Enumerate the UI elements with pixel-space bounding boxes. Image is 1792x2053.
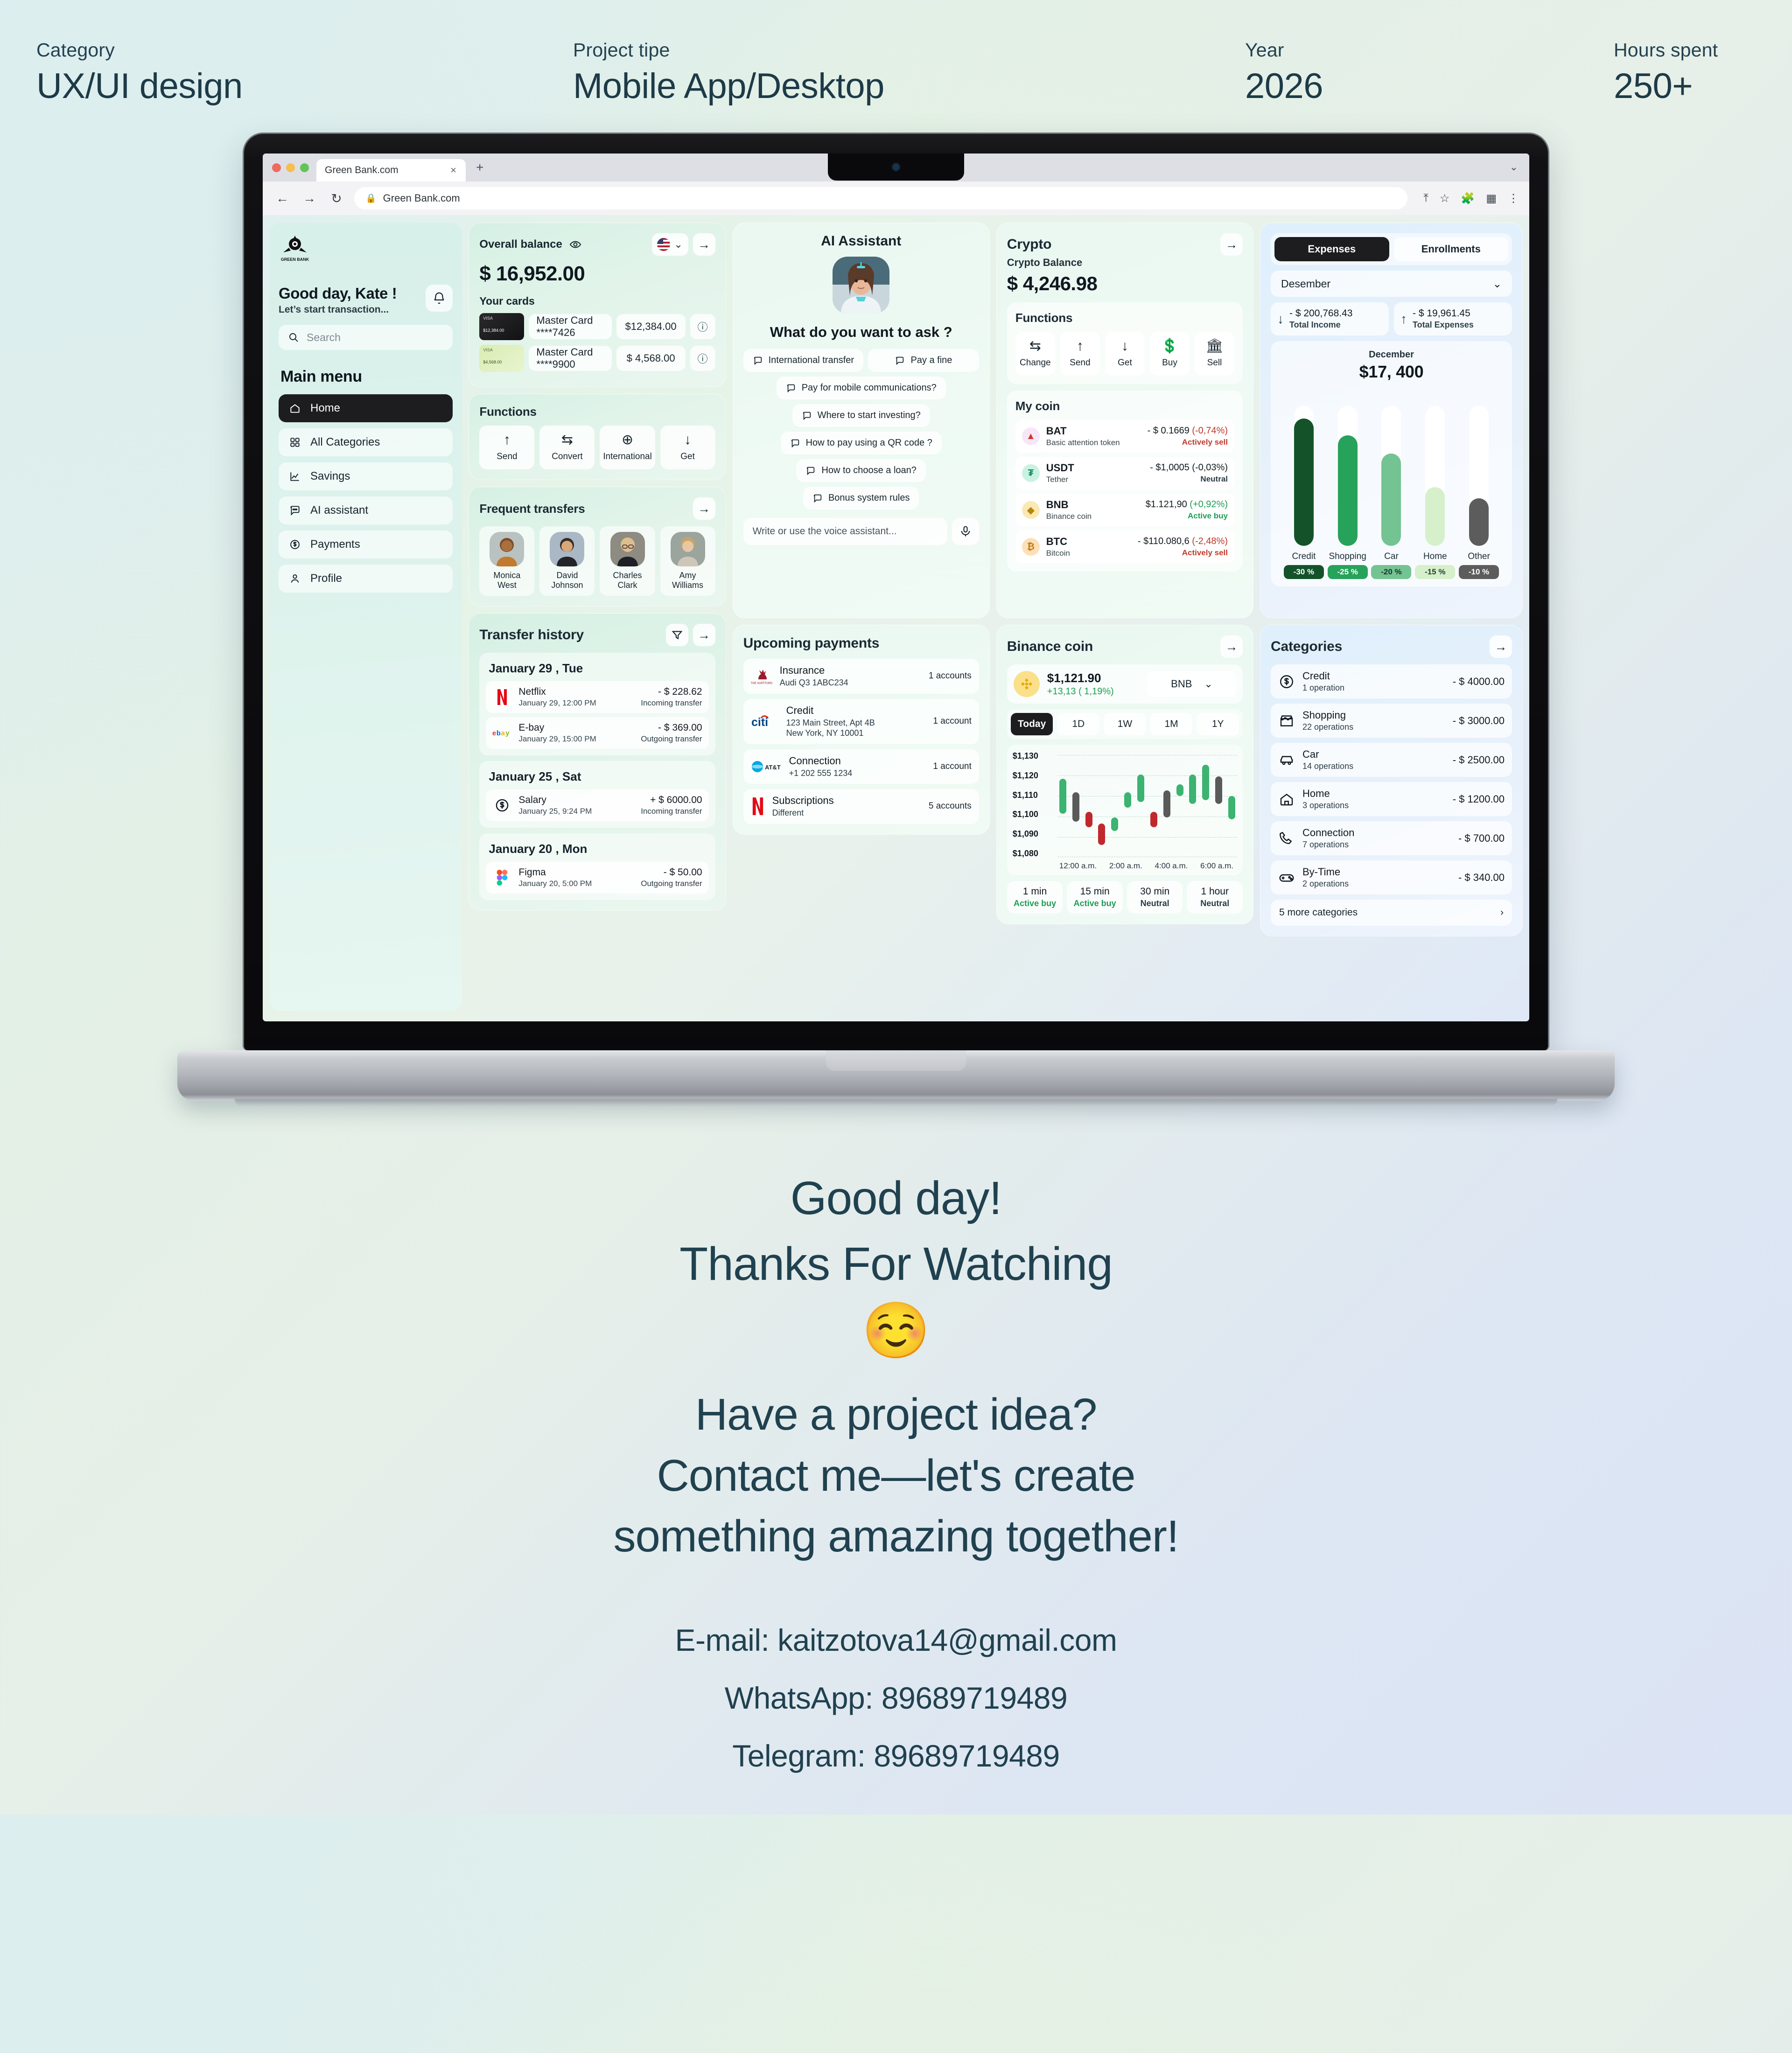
- svg-text:e: e: [492, 730, 496, 737]
- person-first-name: Amy: [679, 571, 696, 580]
- table-row[interactable]: Shopping22 operations - $ 3000.00: [1271, 704, 1512, 738]
- tab-expenses[interactable]: Expenses: [1274, 237, 1389, 261]
- bar-category: Other: [1459, 552, 1499, 562]
- coin-price-value: $1.121,90: [1146, 499, 1187, 510]
- webcam-notch: [828, 154, 964, 181]
- candle: [1124, 792, 1131, 808]
- sidebar-item-label: AI assistant: [310, 504, 368, 517]
- signal-value: Neutral: [1189, 899, 1241, 908]
- exchange-icon: ⇆: [561, 433, 573, 447]
- card-info-button[interactable]: ⓘ: [690, 314, 715, 339]
- dollar-circle-icon: 💲: [1161, 339, 1178, 353]
- history-datetime: January 29, 12:00 PM: [518, 698, 596, 708]
- coin-symbol: BAT: [1046, 425, 1120, 437]
- payment-desc: +1 202 555 1234: [789, 768, 853, 779]
- table-row[interactable]: Figma January 20, 5:00 PM - $ 50.00 Outg…: [486, 862, 708, 894]
- card-row[interactable]: VISA$4,568.00 Master Card ****9900 $ 4,5…: [479, 345, 715, 372]
- history-merchant: Salary: [518, 795, 592, 806]
- ai-assistant-avatar: [833, 257, 889, 314]
- dollar-icon: [289, 538, 301, 551]
- laptop-lid: Green Bank.com × + ⌄ ← → ↻ 🔒: [243, 133, 1549, 1050]
- category-ops: 7 operations: [1302, 840, 1354, 850]
- category-name: Home: [1302, 788, 1349, 800]
- address-input[interactable]: 🔒 Green Bank.com: [354, 187, 1407, 209]
- sidebar-item-label: Home: [310, 402, 340, 415]
- candle: [1215, 776, 1222, 804]
- chat-bubble-icon: [805, 466, 816, 476]
- crypto-function-label: Change: [1020, 358, 1051, 368]
- category-ops: 1 operation: [1302, 683, 1344, 693]
- maximize-window-button[interactable]: [300, 163, 309, 172]
- extensions-icon[interactable]: 🧩: [1461, 192, 1475, 205]
- outro-cta-line-3: something amazing together!: [613, 1511, 1178, 1561]
- forward-icon[interactable]: →: [300, 191, 319, 206]
- lock-icon: 🔒: [365, 193, 377, 204]
- total-expenses-stat: ↑ - $ 19,961.45 Total Expenses: [1394, 302, 1512, 335]
- dashboard: GREEN BANK Good day, Kate ! Let’s start …: [263, 215, 1529, 1021]
- person-last-name: Clark: [617, 580, 637, 590]
- currency-selector[interactable]: ⌄: [652, 233, 688, 256]
- category-amount: - $ 1200.00: [1453, 793, 1505, 805]
- person-name: AmyWilliams: [672, 571, 703, 590]
- history-row-right: - $ 228.62 Incoming transfer: [641, 686, 702, 708]
- signal-value: Active buy: [1069, 899, 1121, 908]
- dashboard-column-b: AI Assistant: [733, 223, 990, 835]
- month-select[interactable]: Desember ⌄: [1271, 271, 1512, 297]
- binance-coin-card: Binance coin → $1,121.90 +13,13 ( 1,19%): [996, 625, 1253, 924]
- outro-cta-line-2: Contact me—let's create: [657, 1451, 1135, 1501]
- function-send-button[interactable]: ↑Send: [479, 426, 534, 469]
- svg-text:a: a: [501, 730, 505, 737]
- home-icon: [289, 402, 301, 414]
- candle: [1189, 775, 1196, 804]
- category-amount: - $ 700.00: [1458, 832, 1505, 845]
- signal-1min[interactable]: 1 minActive buy: [1007, 881, 1063, 914]
- globe-icon: ⊕: [622, 433, 633, 447]
- crypto-header: Crypto →: [1007, 233, 1243, 256]
- history-row-right: - $ 369.00 Outgoing transfer: [641, 722, 702, 744]
- table-row[interactable]: ₮ USDT Tether - $1,0005 (-0,03%) Neutral: [1015, 457, 1234, 489]
- candle: [1085, 812, 1092, 827]
- sidebar-icon[interactable]: ▦: [1486, 192, 1497, 205]
- category-amount: - $ 2500.00: [1453, 754, 1505, 766]
- history-group: January 29 , Tue Netflix January 29, 12:…: [479, 653, 715, 755]
- more-categories-label: 5 more categories: [1279, 907, 1358, 918]
- frequent-transfers-title: Frequent transfers: [479, 502, 585, 516]
- home-icon: [1278, 791, 1295, 808]
- function-label: Convert: [552, 452, 583, 462]
- total-income-stat: ↓ - $ 200,768.43 Total Income: [1271, 302, 1389, 335]
- bell-icon: [432, 291, 446, 305]
- bar-label: Shopping-25 %: [1328, 552, 1368, 579]
- close-window-button[interactable]: [272, 163, 281, 172]
- coin-main: USDT Tether: [1046, 462, 1074, 484]
- chart-grid: [1057, 751, 1237, 859]
- list-item[interactable]: DavidJohnson: [539, 526, 595, 596]
- history-amount: - $ 228.62: [641, 686, 702, 698]
- list-item[interactable]: citi Credit 123 Main Street, Apt 4B New …: [743, 699, 979, 744]
- sidebar-item-ai-assistant[interactable]: AI assistant: [279, 496, 453, 524]
- card-thumb-amount: $12,384.00: [483, 328, 504, 333]
- laptop-base-notch: [826, 1050, 966, 1071]
- meta-value: 2026: [1245, 66, 1614, 106]
- payment-name: Credit: [786, 705, 875, 717]
- contact-telegram[interactable]: Telegram: 89689719489: [0, 1738, 1792, 1774]
- card-thumbnail: VISA$4,568.00: [479, 345, 524, 372]
- hartford-logo: THE HARTFORD: [751, 665, 772, 687]
- category-amount: - $ 4000.00: [1453, 676, 1505, 688]
- range-1y[interactable]: 1Y: [1197, 713, 1239, 735]
- person-name: DavidJohnson: [551, 571, 583, 590]
- arrow-down-icon: ↓: [1121, 339, 1128, 353]
- dashboard-column-a: Overall balance ⌄ →: [469, 223, 726, 911]
- chat-bubble-icon: [812, 493, 823, 503]
- candle: [1163, 790, 1170, 818]
- overall-balance-card: Overall balance ⌄ →: [469, 223, 726, 387]
- sidebar-item-savings[interactable]: Savings: [279, 462, 453, 490]
- candle: [1176, 784, 1183, 796]
- btc-coin-icon: ₿: [1022, 538, 1040, 556]
- search-input[interactable]: Search: [279, 325, 453, 350]
- x-tick: 4:00 a.m.: [1155, 861, 1188, 871]
- binance-price-block: $1,121.90 +13,13 ( 1,19%): [1047, 671, 1114, 697]
- coin-change: (+0,92%): [1190, 499, 1228, 510]
- y-axis: $1,130 $1,120 $1,110 $1,100 $1,090 $1,08…: [1013, 751, 1057, 859]
- table-row[interactable]: By-Time2 operations - $ 340.00: [1271, 860, 1512, 894]
- dollar-icon: [1278, 673, 1295, 690]
- binance-header: Binance coin →: [1007, 635, 1243, 658]
- table-row[interactable]: Credit1 operation - $ 4000.00: [1271, 664, 1512, 698]
- overall-balance-label: Overall balance: [479, 238, 581, 251]
- crypto-change-button[interactable]: ⇆Change: [1015, 332, 1055, 376]
- svg-text:y: y: [506, 730, 510, 737]
- bar-value-badge: -30 %: [1284, 565, 1324, 579]
- meta-label: Year: [1245, 39, 1614, 61]
- sidebar-item-label: Profile: [310, 572, 342, 585]
- chart-plot-area: $1,130 $1,120 $1,110 $1,100 $1,090 $1,08…: [1013, 751, 1237, 859]
- share-icon[interactable]: ⤒: [1423, 192, 1428, 205]
- signal-15min[interactable]: 15 minActive buy: [1067, 881, 1123, 914]
- search-placeholder: Search: [307, 331, 341, 344]
- window-controls[interactable]: [263, 163, 316, 182]
- bar-category: Home: [1415, 552, 1455, 562]
- range-1d[interactable]: 1D: [1057, 713, 1099, 735]
- table-row[interactable]: Salary January 25, 9:24 PM + $ 6000.00 I…: [486, 789, 708, 821]
- address-text: Green Bank.com: [383, 192, 460, 204]
- payment-accounts: 1 account: [933, 716, 971, 726]
- frequent-transfers-arrow-button[interactable]: →: [693, 497, 715, 520]
- functions-title: Functions: [479, 405, 715, 419]
- ai-input-row: Write or use the voice assistant...: [743, 518, 979, 545]
- crypto-arrow-button[interactable]: →: [1220, 233, 1243, 256]
- category-main: Credit1 operation: [1302, 670, 1344, 693]
- bnb-coin-icon: ◆: [1022, 501, 1040, 519]
- more-categories-button[interactable]: 5 more categories ›: [1271, 900, 1512, 926]
- chevron-down-icon[interactable]: ⌄: [1510, 161, 1529, 182]
- arrow-up-icon: ↑: [1077, 339, 1084, 353]
- payment-name: Subscriptions: [772, 795, 834, 807]
- bar-fill: [1294, 419, 1314, 546]
- card-info-button[interactable]: ⓘ: [690, 346, 715, 371]
- browser-url-bar: ← → ↻ 🔒 Green Bank.com ⤒ ☆ 🧩 ▦ ⋮: [263, 182, 1529, 215]
- ai-chip[interactable]: How to choose a loan?: [796, 459, 925, 482]
- coin-symbol: USDT: [1046, 462, 1074, 474]
- meta-item-year: Year 2026: [1245, 39, 1614, 106]
- greeting-row: Good day, Kate ! Let’s start transaction…: [279, 285, 453, 315]
- filter-icon: [671, 629, 683, 641]
- avatar: [610, 532, 645, 566]
- table-row[interactable]: Home3 operations - $ 1200.00: [1271, 782, 1512, 816]
- browser-tab[interactable]: Green Bank.com ×: [316, 159, 466, 182]
- dollar-icon: [492, 796, 512, 815]
- voice-assistant-button[interactable]: [952, 518, 979, 545]
- bar-label: Other-10 %: [1459, 552, 1499, 579]
- back-icon[interactable]: ←: [273, 191, 292, 206]
- candle: [1202, 765, 1209, 800]
- coin-right: - $ 0.1669 (-0,74%) Actively sell: [1148, 426, 1228, 447]
- citi-logo: citi: [751, 712, 779, 731]
- svg-text:GREEN BANK: GREEN BANK: [281, 257, 309, 262]
- sidebar: GREEN BANK Good day, Kate ! Let’s start …: [269, 223, 462, 1011]
- function-convert-button[interactable]: ⇆Convert: [539, 426, 595, 469]
- binance-price-row: $1,121.90 +13,13 ( 1,19%) BNB⌄: [1007, 664, 1243, 704]
- ai-chip[interactable]: How to pay using a QR code ?: [781, 432, 942, 454]
- list-item[interactable]: CharlesClark: [600, 526, 655, 596]
- list-item[interactable]: THE HARTFORD Insurance Audi Q3 1ABC234 1…: [743, 659, 979, 694]
- x-tick: 2:00 a.m.: [1109, 861, 1142, 871]
- candle-series: [1057, 751, 1237, 859]
- y-tick: $1,080: [1013, 849, 1057, 859]
- att-logo: AT&T: [751, 759, 782, 775]
- bar-value-badge: -25 %: [1328, 565, 1368, 579]
- bat-coin-icon: ▲: [1022, 427, 1040, 445]
- table-row[interactable]: Netflix January 29, 12:00 PM - $ 228.62 …: [486, 681, 708, 713]
- crypto-get-button[interactable]: ↓Get: [1105, 332, 1145, 376]
- table-row[interactable]: ◆ BNB Binance coin $1.121,90 (+0,92%) Ac…: [1015, 494, 1234, 526]
- range-1m[interactable]: 1M: [1150, 713, 1193, 735]
- chip-row: International transfer Pay a fine: [743, 349, 979, 372]
- microphone-icon: [959, 525, 972, 538]
- signal-1hour[interactable]: 1 hourNeutral: [1187, 881, 1243, 914]
- total-income-label: Total Income: [1289, 320, 1352, 330]
- bar-fill: [1381, 454, 1401, 546]
- coin-name: Bitcoin: [1046, 549, 1070, 558]
- payment-accounts: 1 account: [933, 761, 971, 772]
- contact-block: E-mail: kaitzotova14@gmail.com WhatsApp:…: [0, 1622, 1792, 1774]
- payment-desc: Audi Q3 1ABC234: [780, 677, 848, 688]
- new-tab-button[interactable]: +: [466, 160, 493, 182]
- candle: [1072, 792, 1079, 822]
- ai-chip[interactable]: International transfer: [743, 349, 863, 372]
- bar-category: Car: [1371, 552, 1411, 562]
- dashboard-column-c: Crypto → Crypto Balance $ 4,246.98 Funct…: [996, 223, 1253, 924]
- category-main: Shopping22 operations: [1302, 709, 1353, 732]
- ai-assistant-title: AI Assistant: [743, 233, 979, 249]
- close-tab-icon[interactable]: ×: [448, 164, 459, 176]
- ai-chip[interactable]: Pay for mobile communications?: [777, 377, 946, 399]
- history-datetime: January 25, 9:24 PM: [518, 807, 592, 816]
- search-icon: [288, 332, 299, 343]
- ai-chip-label: International transfer: [769, 355, 854, 366]
- payment-desc: Different: [772, 808, 834, 818]
- category-ops: 3 operations: [1302, 801, 1349, 810]
- coin-select[interactable]: BNB⌄: [1148, 671, 1236, 697]
- range-today[interactable]: Today: [1011, 713, 1053, 735]
- history-merchant: Netflix: [518, 686, 596, 698]
- eye-icon[interactable]: [569, 238, 582, 251]
- card-amount: $12,384.00: [616, 314, 686, 339]
- chat-bubble-icon: [802, 411, 812, 421]
- laptop-base-body: [177, 1050, 1615, 1101]
- sidebar-item-label: Payments: [310, 538, 360, 551]
- ai-assistant-card: AI Assistant: [733, 223, 990, 618]
- list-item[interactable]: AT&T Connection +1 202 555 1234 1 accoun…: [743, 749, 979, 784]
- history-merchant: Figma: [518, 867, 592, 878]
- payment-accounts: 5 accounts: [929, 801, 972, 811]
- avatar: [671, 532, 705, 566]
- sidebar-item-payments[interactable]: Payments: [279, 531, 453, 559]
- y-tick: $1,120: [1013, 771, 1057, 781]
- list-item[interactable]: Subscriptions Different 5 accounts: [743, 789, 979, 824]
- card-name: Master Card ****9900: [529, 346, 611, 371]
- bar-category: Shopping: [1328, 552, 1368, 562]
- outro-cta-line-1: Have a project idea?: [695, 1390, 1097, 1439]
- sidebar-item-label: Savings: [310, 470, 350, 483]
- range-1w[interactable]: 1W: [1104, 713, 1146, 735]
- bar-fill: [1338, 435, 1358, 546]
- transfer-history-card: Transfer history → Janua: [469, 613, 726, 911]
- function-international-button[interactable]: ⊕International: [600, 426, 655, 469]
- function-label: Send: [497, 452, 517, 462]
- chevron-down-icon: ⌄: [1204, 678, 1212, 690]
- list-item[interactable]: MonicaWest: [479, 526, 534, 596]
- greeting-title: Good day, Kate !: [279, 285, 397, 302]
- crypto-function-label: Buy: [1162, 358, 1177, 368]
- ai-chip[interactable]: Pay a fine: [868, 349, 979, 372]
- y-tick: $1,090: [1013, 829, 1057, 839]
- categories-title: Categories: [1271, 639, 1342, 655]
- table-row[interactable]: ebay E-bay January 29, 15:00 PM - $ 369.…: [486, 717, 708, 749]
- contact-email[interactable]: E-mail: kaitzotova14@gmail.com: [0, 1622, 1792, 1658]
- history-row-main: Salary January 25, 9:24 PM: [518, 795, 592, 816]
- signal-row: 1 minActive buy 15 minActive buy 30 minN…: [1007, 881, 1243, 914]
- history-row-main: E-bay January 29, 15:00 PM: [518, 722, 596, 744]
- netflix-logo: [751, 797, 765, 816]
- greeting-subtitle: Let’s start transaction...: [279, 304, 397, 315]
- crypto-buy-button[interactable]: 💲Buy: [1150, 332, 1190, 376]
- card-row[interactable]: VISA$12,384.00 Master Card ****7426 $12,…: [479, 313, 715, 340]
- more-menu-icon[interactable]: ⋮: [1508, 192, 1519, 205]
- avatar: [490, 532, 524, 566]
- chart-line-icon: [289, 470, 301, 482]
- meta-label: Project tipe: [573, 39, 1245, 61]
- ai-chip[interactable]: Where to start investing?: [792, 404, 930, 427]
- tab-enrollments[interactable]: Enrollments: [1394, 237, 1509, 261]
- meta-label: Hours spent: [1614, 39, 1756, 61]
- categories-arrow-button[interactable]: →: [1490, 635, 1512, 658]
- coin-price-value: - $ 0.1669: [1148, 426, 1190, 436]
- notifications-button[interactable]: [426, 285, 453, 312]
- bar: [1338, 406, 1358, 546]
- green-bank-logo: GREEN BANK: [279, 234, 311, 264]
- transfer-history-arrow-button[interactable]: →: [693, 624, 715, 646]
- table-row[interactable]: Connection7 operations - $ 700.00: [1271, 821, 1512, 855]
- sidebar-item-profile[interactable]: Profile: [279, 565, 453, 593]
- transfer-history-header: Transfer history →: [479, 624, 715, 646]
- svg-text:AT&T: AT&T: [765, 764, 781, 771]
- signal-30min[interactable]: 30 minNeutral: [1127, 881, 1183, 914]
- coin-price: $1.121,90 (+0,92%): [1146, 499, 1228, 510]
- bar-series: [1278, 392, 1505, 546]
- table-row[interactable]: ▲ BAT Basic attention token - $ 0.1669 (…: [1015, 420, 1234, 453]
- bar-value-badge: -15 %: [1415, 565, 1455, 579]
- bookmark-star-icon[interactable]: ☆: [1440, 192, 1450, 205]
- chart-subtitle: $17, 400: [1278, 362, 1505, 382]
- crypto-send-button[interactable]: ↑Send: [1060, 332, 1100, 376]
- your-cards-label: Your cards: [479, 295, 715, 307]
- crypto-function-label: Send: [1070, 358, 1090, 368]
- bar: [1381, 406, 1401, 546]
- chat-bubble-icon: [790, 438, 800, 448]
- chat-icon: [289, 504, 301, 517]
- table-row[interactable]: Car14 operations - $ 2500.00: [1271, 743, 1512, 777]
- balance-open-arrow-button[interactable]: →: [693, 233, 715, 256]
- webcam-icon: [893, 164, 899, 170]
- sidebar-item-all-categories[interactable]: All Categories: [279, 428, 453, 456]
- binance-arrow-button[interactable]: →: [1220, 635, 1243, 658]
- binance-price: $1,121.90: [1047, 671, 1114, 685]
- minimize-window-button[interactable]: [286, 163, 295, 172]
- ai-message-input[interactable]: Write or use the voice assistant...: [743, 518, 947, 545]
- crypto-title: Crypto: [1007, 237, 1051, 252]
- frequent-transfers-header: Frequent transfers →: [479, 497, 715, 520]
- crypto-card: Crypto → Crypto Balance $ 4,246.98 Funct…: [996, 223, 1253, 618]
- phone-icon: [1278, 830, 1295, 847]
- filter-button[interactable]: [666, 624, 688, 646]
- svg-text:THE HARTFORD: THE HARTFORD: [751, 682, 772, 685]
- sidebar-item-home[interactable]: Home: [279, 394, 453, 422]
- bar-label: Car-20 %: [1371, 552, 1411, 579]
- people-list: MonicaWest DavidJohnson CharlesClark: [479, 526, 715, 596]
- x-axis: 12:00 a.m. 2:00 a.m. 4:00 a.m. 6:00 a.m.: [1013, 859, 1237, 871]
- crypto-sell-button[interactable]: 🏛Sell: [1195, 332, 1234, 376]
- history-date: January 29 , Tue: [489, 661, 708, 676]
- ai-chip[interactable]: Bonus system rules: [803, 487, 919, 510]
- table-row[interactable]: ₿ BTC Bitcoin - $110.080,6 (-2,48%) Acti…: [1015, 531, 1234, 563]
- outro-line-2: Thanks For Watching: [0, 1237, 1792, 1291]
- total-expenses-value: - $ 19,961.45: [1413, 308, 1474, 319]
- contact-whatsapp[interactable]: WhatsApp: 89689719489: [0, 1680, 1792, 1716]
- person-last-name: West: [497, 580, 517, 590]
- category-ops: 2 operations: [1302, 879, 1349, 889]
- outro-cta: Have a project idea? Contact me—let's cr…: [0, 1384, 1792, 1567]
- arrow-up-icon: ↑: [504, 433, 511, 447]
- coin-status: Actively sell: [1148, 438, 1228, 447]
- my-coin-panel: My coin ▲ BAT Basic attention token: [1007, 391, 1243, 572]
- history-row-right: + $ 6000.00 Incoming transfer: [641, 795, 702, 816]
- usdt-coin-icon: ₮: [1022, 464, 1040, 482]
- arrow-down-icon: ↓: [1277, 312, 1284, 327]
- transfer-history-title: Transfer history: [479, 627, 584, 643]
- list-item[interactable]: AmyWilliams: [660, 526, 715, 596]
- expenses-card: Expenses Enrollments Desember ⌄ ↓: [1260, 223, 1523, 618]
- signal-value: Neutral: [1129, 899, 1181, 908]
- reload-icon[interactable]: ↻: [327, 191, 346, 206]
- function-get-button[interactable]: ↓Get: [660, 426, 715, 469]
- signal-period: 1 hour: [1189, 886, 1241, 897]
- functions-grid: ↑Send ⇆Convert ⊕International ↓Get: [479, 426, 715, 469]
- crypto-function-label: Get: [1118, 358, 1132, 368]
